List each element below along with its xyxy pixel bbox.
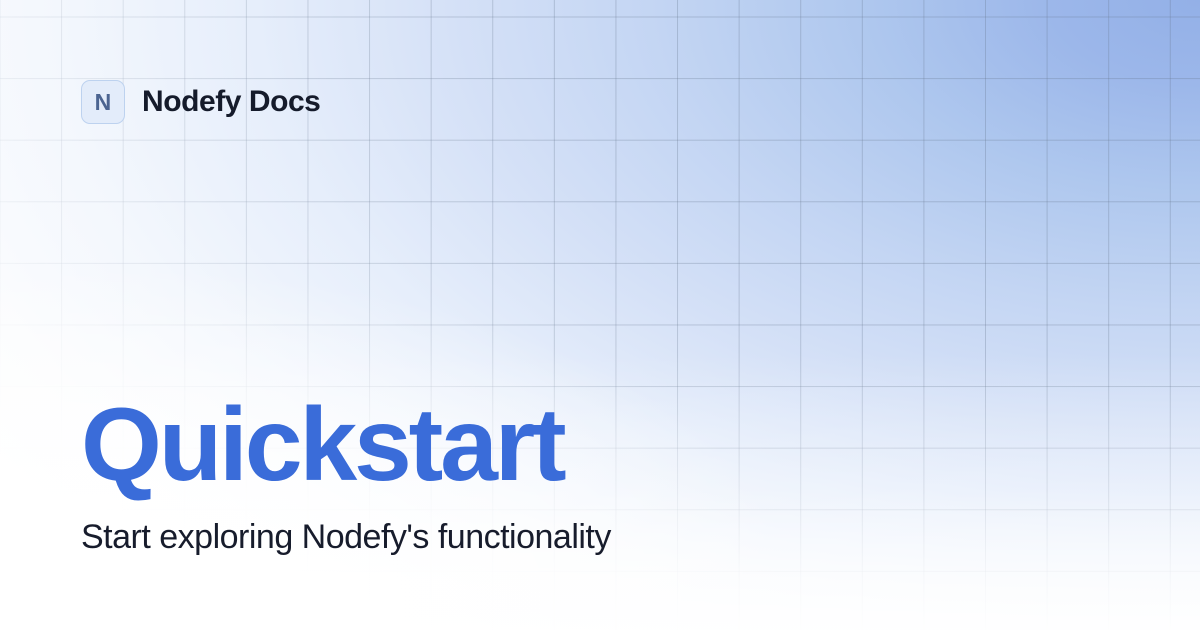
nodefy-logo-icon: N (81, 80, 125, 124)
page-subtitle: Start exploring Nodefy's functionality (81, 517, 611, 558)
hero-text-block: Quickstart Start exploring Nodefy's func… (81, 393, 611, 558)
nodefy-logo-letter: N (95, 91, 112, 114)
og-hero-card: N Nodefy Docs Quickstart Start exploring… (0, 0, 1200, 630)
page-title: Quickstart (81, 393, 611, 497)
brand-header: N Nodefy Docs (81, 80, 320, 124)
brand-name: Nodefy Docs (142, 85, 320, 119)
